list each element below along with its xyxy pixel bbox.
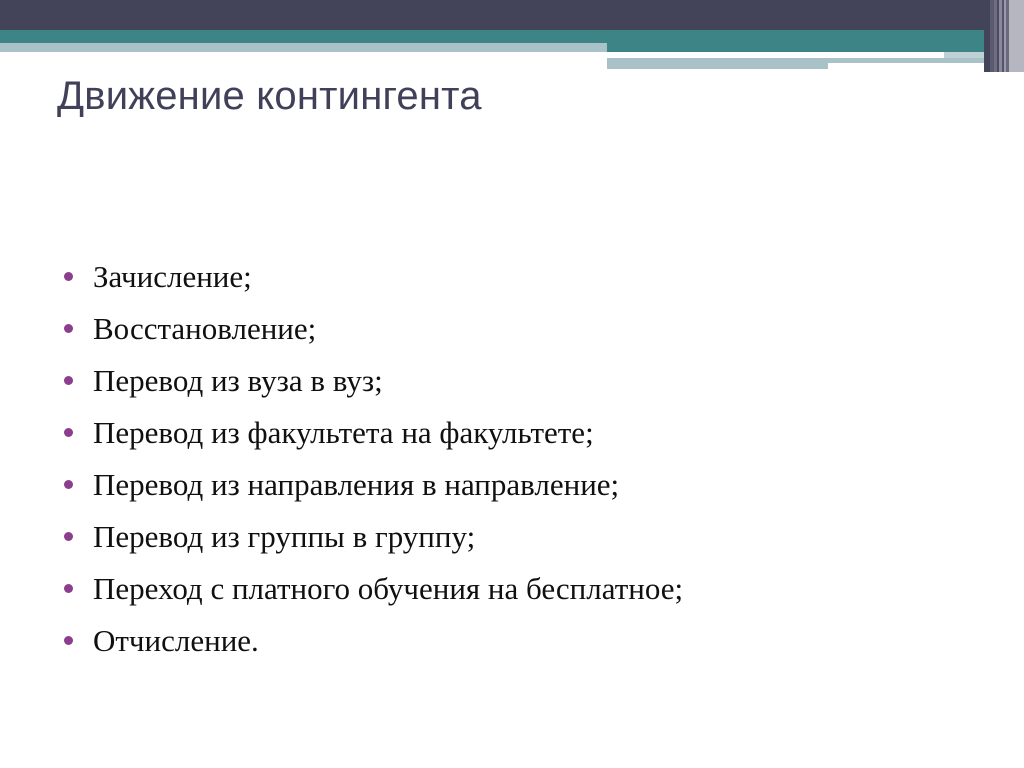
bullet-dot-icon	[64, 636, 73, 645]
header-sliver-gap	[607, 52, 944, 58]
list-item-label: Перевод из вуза в вуз;	[93, 362, 383, 400]
list-item: Перевод из вуза в вуз;	[64, 362, 984, 414]
list-item-label: Перевод из группы в группу;	[93, 518, 475, 556]
list-item: Перевод из группы в группу;	[64, 518, 984, 570]
header-stripe-8	[1009, 0, 1024, 72]
list-item: Отчисление.	[64, 622, 984, 674]
bullet-list: Зачисление;Восстановление;Перевод из вуз…	[64, 258, 984, 674]
header-decoration	[0, 0, 1024, 72]
header-band-dark	[0, 0, 1024, 30]
list-item: Зачисление;	[64, 258, 984, 310]
list-item-label: Зачисление;	[93, 258, 252, 296]
header-sliver-lower	[607, 63, 828, 69]
slide-canvas: Движение контингента Зачисление;Восстано…	[0, 0, 1024, 768]
list-item-label: Переход с платного обучения на бесплатно…	[93, 570, 683, 608]
bullet-dot-icon	[64, 480, 73, 489]
list-item-label: Отчисление.	[93, 622, 259, 660]
list-item: Переход с платного обучения на бесплатно…	[64, 570, 984, 622]
list-item: Перевод из направления в направление;	[64, 466, 984, 518]
list-item-label: Перевод из направления в направление;	[93, 466, 619, 504]
bullet-dot-icon	[64, 532, 73, 541]
list-item: Восстановление;	[64, 310, 984, 362]
header-band-teal-left	[0, 30, 607, 43]
list-item-label: Перевод из факультета на факультете;	[93, 414, 594, 452]
bullet-dot-icon	[64, 428, 73, 437]
bullet-dot-icon	[64, 376, 73, 385]
list-item-label: Восстановление;	[93, 310, 316, 348]
list-item: Перевод из факультета на факультете;	[64, 414, 984, 466]
bullet-dot-icon	[64, 584, 73, 593]
slide-title: Движение контингента	[57, 74, 482, 119]
bullet-dot-icon	[64, 272, 73, 281]
header-band-light-left	[0, 43, 607, 52]
header-vertical-stripes	[984, 0, 1024, 72]
bullet-dot-icon	[64, 324, 73, 333]
